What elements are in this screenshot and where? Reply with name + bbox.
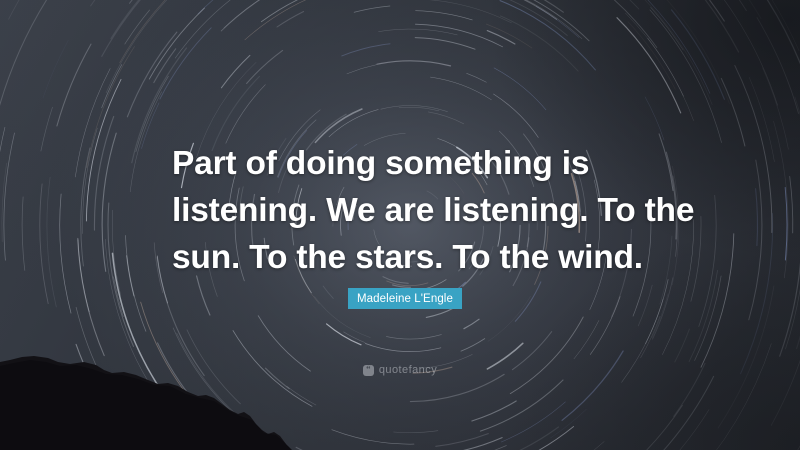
watermark-brand: quotefancy [379, 364, 437, 376]
quote-line-3: sun. To the stars. To the wind. [172, 234, 648, 281]
quote-line-1: Part of doing something is [172, 140, 648, 187]
quote-mark-icon: “ [363, 365, 374, 376]
author-name: Madeleine L'Engle [357, 293, 453, 305]
quote-text-block: Part of doing something is listening. We… [172, 140, 648, 281]
quote-mark-glyph: “ [366, 365, 371, 374]
author-badge[interactable]: Madeleine L'Engle [348, 288, 462, 309]
quote-line-2: listening. We are listening. To the [172, 187, 648, 234]
quote-card: Part of doing something is listening. We… [0, 0, 800, 450]
quotefancy-watermark[interactable]: “ quotefancy [0, 364, 800, 376]
rock-silhouette [0, 340, 340, 450]
